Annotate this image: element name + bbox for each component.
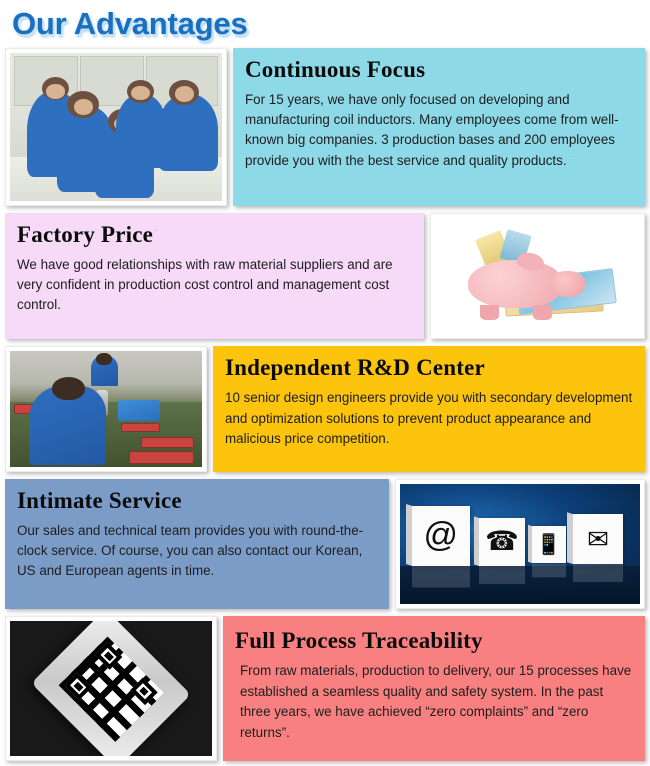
card-heading: Continuous Focus	[245, 57, 633, 84]
card-body: Our sales and technical team provides yo…	[17, 521, 377, 582]
advantage-card-intimate-service: Intimate Service Our sales and technical…	[5, 479, 389, 609]
advantage-card-full-process-traceability: Full Process Traceability From raw mater…	[223, 616, 645, 761]
factory-workers-photo	[5, 48, 227, 206]
piggy-bank-money-photo	[430, 213, 645, 339]
trailing-mark: ·	[569, 152, 572, 161]
mobile-phone-icon: 📱	[532, 526, 566, 563]
advantage-card-factory-price: Factory Price· We have good relationship…	[5, 213, 424, 339]
card-heading: Full Process Traceability	[235, 628, 633, 655]
card-heading: Factory Price·	[17, 222, 412, 249]
advantage-row-full-process-traceability: Full Process Traceability From raw mater…	[5, 616, 645, 761]
advantage-row-factory-price: Factory Price· We have good relationship…	[5, 213, 645, 339]
advantage-row-continuous-focus: Continuous Focus For 15 years, we have o…	[5, 48, 645, 206]
page-title: Our Advantages	[12, 6, 248, 42]
assembly-line-photo	[5, 346, 207, 472]
card-heading: Intimate Service	[17, 488, 377, 515]
card-body: From raw materials, production to delive…	[235, 661, 633, 745]
card-body-text: For 15 years, we have only focused on de…	[245, 92, 619, 168]
telephone-icon: ☎	[479, 518, 525, 566]
advantage-card-independent-rd-center: Independent R&D Center 10 senior design …	[213, 346, 645, 472]
advantage-row-independent-rd-center: Independent R&D Center 10 senior design …	[5, 346, 645, 472]
advantage-card-continuous-focus: Continuous Focus For 15 years, we have o…	[233, 48, 645, 206]
at-icon: @	[412, 506, 470, 566]
contact-icons-photo: @ ☎ 📱 ✉	[395, 479, 645, 609]
card-heading-text: Factory Price	[17, 222, 153, 247]
page-title-bar: Our Advantages	[5, 0, 645, 48]
advantages-page: Our Advantages	[0, 0, 650, 766]
card-body: 10 senior design engineers provide you w…	[225, 388, 633, 451]
qr-code-tag-photo	[5, 616, 217, 761]
card-body: For 15 years, we have only focused on de…	[245, 90, 633, 172]
trailing-mark: ·	[155, 226, 158, 235]
advantage-row-intimate-service: Intimate Service Our sales and technical…	[5, 479, 645, 609]
card-body: We have good relationships with raw mate…	[17, 255, 412, 316]
card-heading: Independent R&D Center	[225, 355, 633, 382]
envelope-icon: ✉	[573, 514, 623, 564]
